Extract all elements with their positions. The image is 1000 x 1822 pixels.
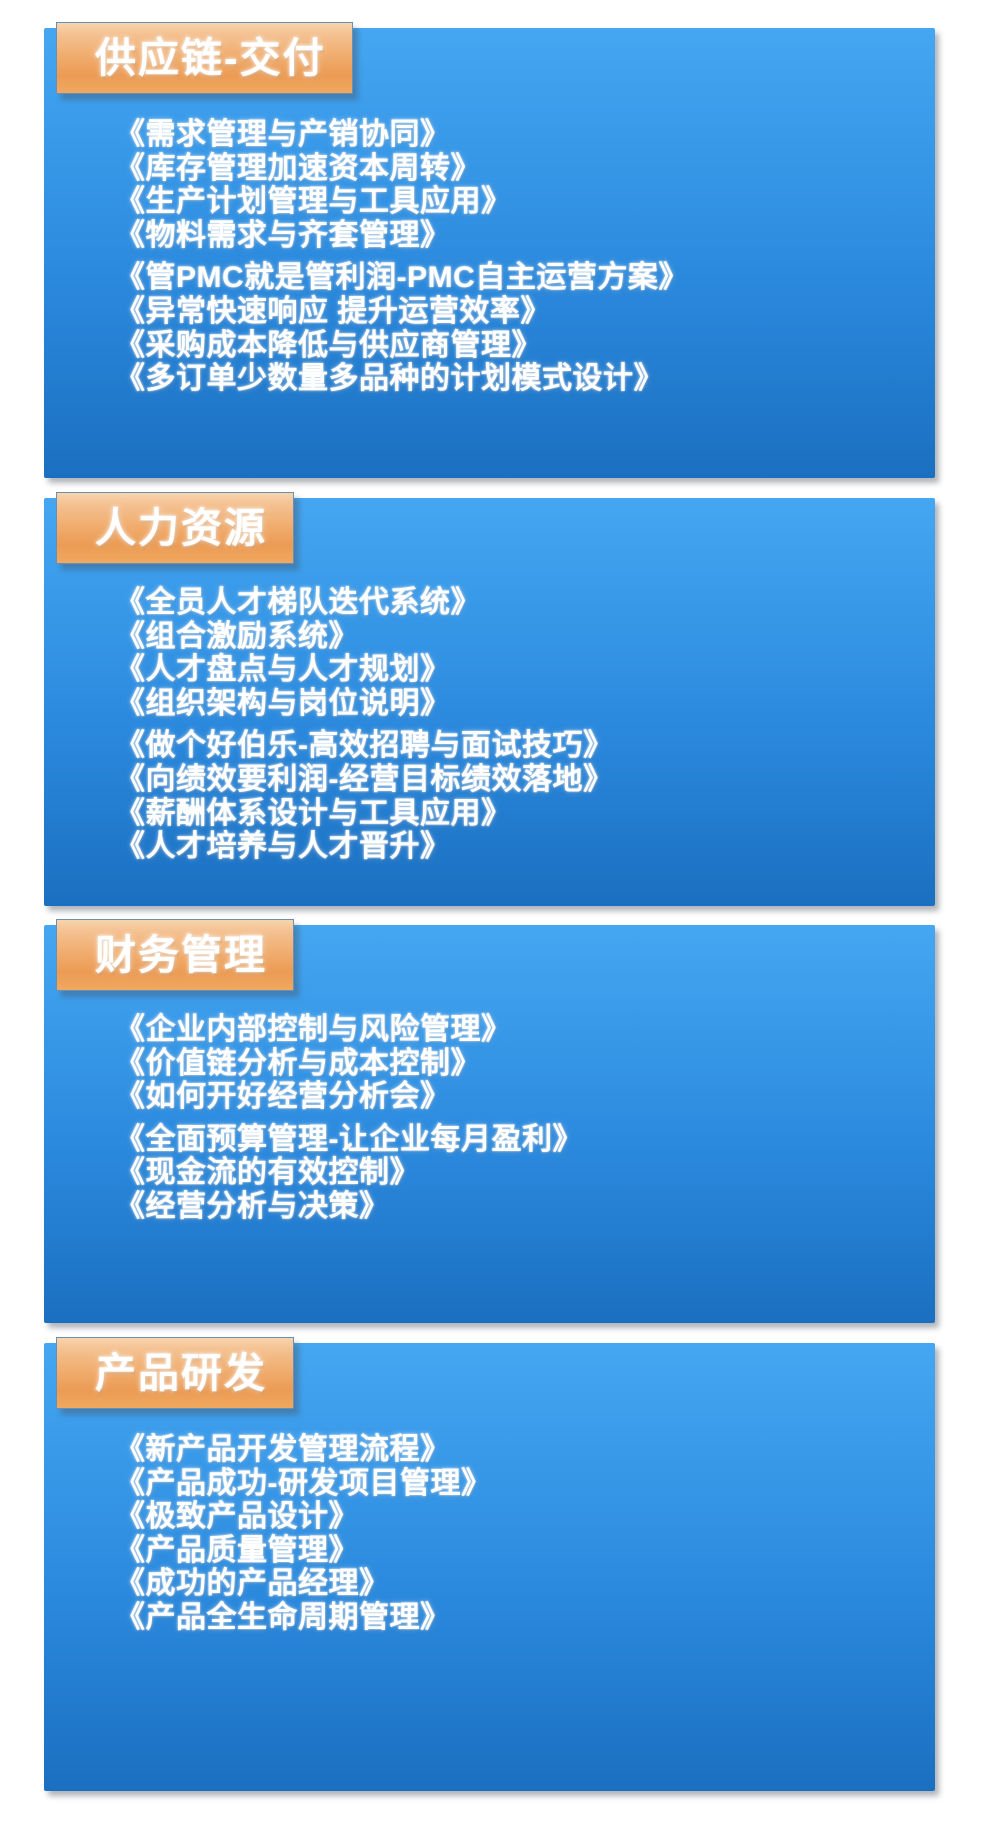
section-card: 产品研发 《新产品开发管理流程》 《产品成功-研发项目管理》 《极致产品设计》 … [44,1343,935,1791]
section-badge-label: 供应链-交付 [95,38,326,79]
course-item[interactable]: 《异常快速响应 提升运营效率》 [115,295,925,329]
course-item[interactable]: 《做个好伯乐-高效招聘与面试技巧》 [115,729,925,763]
course-item[interactable]: 《物料需求与齐套管理》 [115,219,925,253]
course-item[interactable]: 《向绩效要利润-经营目标绩效落地》 [115,763,925,797]
course-list: 《企业内部控制与风险管理》 《价值链分析与成本控制》 《如何开好经营分析会》 《… [115,1013,925,1224]
course-item[interactable]: 《库存管理加速资本周转》 [115,152,925,186]
catalog-page: 供应链-交付 《需求管理与产销协同》 《库存管理加速资本周转》 《生产计划管理与… [0,0,1000,1822]
course-item[interactable]: 《企业内部控制与风险管理》 [115,1013,925,1047]
course-item[interactable]: 《成功的产品经理》 [115,1567,925,1601]
course-item[interactable]: 《现金流的有效控制》 [115,1156,925,1190]
course-list: 《需求管理与产销协同》 《库存管理加速资本周转》 《生产计划管理与工具应用》 《… [115,118,925,396]
section-card: 供应链-交付 《需求管理与产销协同》 《库存管理加速资本周转》 《生产计划管理与… [44,28,935,478]
section-card: 财务管理 《企业内部控制与风险管理》 《价值链分析与成本控制》 《如何开好经营分… [44,925,935,1323]
course-item[interactable]: 《管PMC就是管利润-PMC自主运营方案》 [115,261,925,295]
course-item[interactable]: 《人才盘点与人才规划》 [115,653,925,687]
course-item[interactable]: 《新产品开发管理流程》 [115,1433,925,1467]
course-item[interactable]: 《需求管理与产销协同》 [115,118,925,152]
course-item[interactable]: 《采购成本降低与供应商管理》 [115,329,925,363]
course-item[interactable]: 《薪酬体系设计与工具应用》 [115,797,925,831]
course-item[interactable]: 《多订单少数量多品种的计划模式设计》 [115,362,925,396]
course-item[interactable]: 《价值链分析与成本控制》 [115,1047,925,1081]
section-badge-supply-chain[interactable]: 供应链-交付 [56,22,353,94]
course-item[interactable]: 《极致产品设计》 [115,1500,925,1534]
section-card: 人力资源 《全员人才梯队迭代系统》 《组合激励系统》 《人才盘点与人才规划》 《… [44,498,935,906]
course-item[interactable]: 《人才培养与人才晋升》 [115,830,925,864]
course-item[interactable]: 《产品全生命周期管理》 [115,1601,925,1635]
course-list: 《全员人才梯队迭代系统》 《组合激励系统》 《人才盘点与人才规划》 《组织架构与… [115,586,925,864]
course-item[interactable]: 《如何开好经营分析会》 [115,1080,925,1114]
course-item[interactable]: 《组合激励系统》 [115,620,925,654]
course-item[interactable]: 《全面预算管理-让企业每月盈利》 [115,1123,925,1157]
course-item[interactable]: 《产品质量管理》 [115,1534,925,1568]
section-badge-human-resources[interactable]: 人力资源 [56,492,294,564]
course-list: 《新产品开发管理流程》 《产品成功-研发项目管理》 《极致产品设计》 《产品质量… [115,1433,925,1635]
section-badge-label: 产品研发 [95,1353,267,1394]
course-item[interactable]: 《经营分析与决策》 [115,1190,925,1224]
section-badge-label: 财务管理 [95,935,267,976]
section-badge-finance[interactable]: 财务管理 [56,919,294,991]
course-item[interactable]: 《产品成功-研发项目管理》 [115,1467,925,1501]
course-item[interactable]: 《生产计划管理与工具应用》 [115,185,925,219]
course-item[interactable]: 《全员人才梯队迭代系统》 [115,586,925,620]
section-badge-product-rd[interactable]: 产品研发 [56,1337,294,1409]
course-item[interactable]: 《组织架构与岗位说明》 [115,687,925,721]
section-badge-label: 人力资源 [95,508,267,549]
